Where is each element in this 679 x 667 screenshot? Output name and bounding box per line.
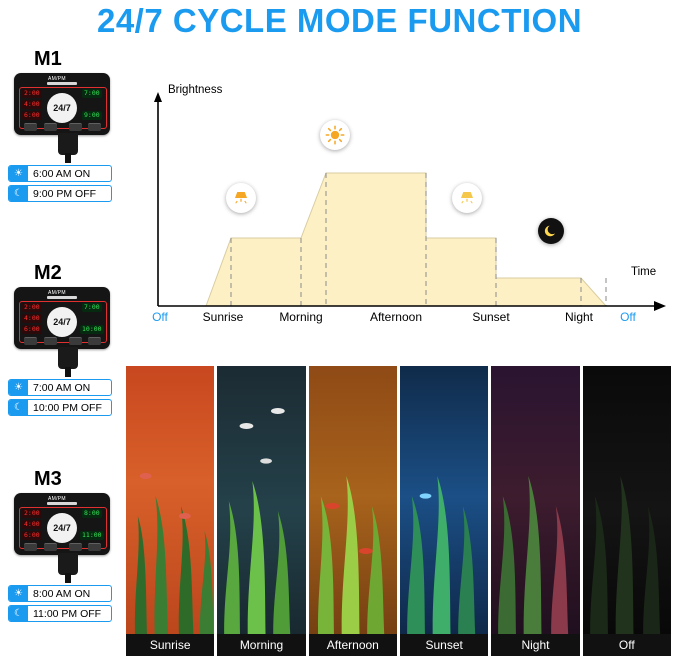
seg-green-1: 7:00 [82,89,102,98]
y-axis-label: Brightness [168,84,222,96]
tick-label-sunrise: Sunrise [183,310,263,324]
photo-pane-night: Night [491,366,579,656]
m3-on-time: ☀ 8:00 AM ON [8,585,112,602]
button-left-2[interactable] [44,123,57,131]
aquarium-plants-off [583,366,671,656]
aquarium-plants-night [491,366,579,656]
m3-off-time: ☾ 11:00 PM OFF [8,605,112,622]
button-right-1[interactable] [69,543,82,551]
moon-icon: ☾ [9,400,28,415]
button-left-1[interactable] [24,337,37,345]
photo-strip: Sunrise Morning Afternoon [126,366,671,656]
photo-pane-off: Off [583,366,671,656]
photo-pane-sunset: Sunset [400,366,488,656]
brightness-cycle-chart: Brightness Time Off Sunrise Morning Afte… [126,78,671,328]
module-m2: M2 AM/PM 2:00 4:00 6:00 7:00 10:00 24/7 … [8,262,118,416]
seg-red-2: 4:00 [22,100,42,109]
dial-24-7[interactable]: 24/7 [47,513,77,543]
sun-icon: ☀ [9,380,28,395]
button-left-1[interactable] [24,543,37,551]
aquarium-plants-morning [217,366,305,656]
m1-on-time-label: 6:00 AM ON [28,168,90,180]
m2-on-time: ☀ 7:00 AM ON [8,379,112,396]
m3-on-time-label: 8:00 AM ON [28,588,90,600]
tick-label-morning: Morning [261,310,341,324]
photo-pane-morning: Morning [217,366,305,656]
m2-off-time-label: 10:00 PM OFF [28,402,102,414]
tick-label-off-end: Off [608,310,648,324]
photo-caption-afternoon: Afternoon [309,634,397,656]
plug-body [58,133,78,155]
page-title: 24/7 CYCLE MODE FUNCTION [0,2,679,40]
ampm-bar [47,82,77,85]
m2-off-time: ☾ 10:00 PM OFF [8,399,112,416]
m2-on-time-label: 7:00 AM ON [28,382,90,394]
seg-red-3: 6:00 [22,325,42,334]
tick-label-night: Night [544,310,614,324]
button-right-1[interactable] [69,337,82,345]
dial-24-7[interactable]: 24/7 [47,307,77,337]
power-cord [65,573,71,583]
sun-glyph [325,125,345,145]
seg-green-2: 9:00 [82,111,102,120]
module-m1: M1 AM/PM 2:00 4:00 6:00 7:00 9:00 24/7 ☀… [8,48,118,202]
seg-red-2: 4:00 [22,314,42,323]
photo-caption-sunset: Sunset [400,634,488,656]
module-m3-label: M3 [34,468,118,491]
sun-icon: ☀ [9,166,28,181]
button-right-2[interactable] [88,123,101,131]
m3-off-time-label: 11:00 PM OFF [28,608,101,620]
button-right-2[interactable] [88,543,101,551]
controller-m3-body[interactable]: AM/PM 2:00 4:00 6:00 8:00 11:00 24/7 [14,493,110,555]
tick-label-sunset: Sunset [451,310,531,324]
controller-m1-body[interactable]: AM/PM 2:00 4:00 6:00 7:00 9:00 24/7 [14,73,110,135]
button-left-2[interactable] [44,337,57,345]
seg-green-2: 10:00 [80,325,104,334]
photo-caption-sunrise: Sunrise [126,634,214,656]
module-m2-label: M2 [34,262,118,285]
dial-24-7[interactable]: 24/7 [47,93,77,123]
seg-red-1: 2:00 [22,89,42,98]
sun-bright-icon [320,120,350,150]
plug-body [58,553,78,575]
sunset-lamp-icon [452,183,482,213]
seg-red-2: 4:00 [22,520,42,529]
seg-red-3: 6:00 [22,531,42,540]
m1-off-time: ☾ 9:00 PM OFF [8,185,112,202]
controller-m2-body[interactable]: AM/PM 2:00 4:00 6:00 7:00 10:00 24/7 [14,287,110,349]
ampm-bar [47,296,77,299]
button-left-1[interactable] [24,123,37,131]
aquarium-plants-sunrise [126,366,214,656]
photo-caption-off: Off [583,634,671,656]
sunrise-lamp-icon [226,183,256,213]
seg-red-3: 6:00 [22,111,42,120]
seg-red-1: 2:00 [22,303,42,312]
module-m3: M3 AM/PM 2:00 4:00 6:00 8:00 11:00 24/7 … [8,468,118,622]
moon-icon [538,218,564,244]
sunrise-lamp-glyph [232,189,250,207]
button-right-1[interactable] [69,123,82,131]
power-cord [65,153,71,163]
seg-red-1: 2:00 [22,509,42,518]
tick-label-afternoon: Afternoon [351,310,441,324]
aquarium-plants-sunset [400,366,488,656]
x-axis-arrow [654,301,666,311]
moon-glyph [543,223,559,239]
chart-svg [126,78,671,328]
m1-off-time-label: 9:00 PM OFF [28,188,96,200]
button-right-2[interactable] [88,337,101,345]
photo-pane-sunrise: Sunrise [126,366,214,656]
moon-icon: ☾ [9,606,28,621]
aquarium-plants-afternoon [309,366,397,656]
sun-icon: ☀ [9,586,28,601]
y-axis-arrow [154,92,162,102]
moon-icon: ☾ [9,186,28,201]
plug-body [58,347,78,369]
seg-green-2: 11:00 [80,531,104,540]
photo-caption-night: Night [491,634,579,656]
button-left-2[interactable] [44,543,57,551]
power-cord [65,367,71,377]
photo-caption-morning: Morning [217,634,305,656]
sunset-lamp-glyph [458,189,476,207]
tick-label-off-start: Off [140,310,180,324]
seg-green-1: 8:00 [82,509,102,518]
x-axis-label: Time [631,266,656,278]
photo-pane-afternoon: Afternoon [309,366,397,656]
module-m1-label: M1 [34,48,118,71]
m1-on-time: ☀ 6:00 AM ON [8,165,112,182]
ampm-bar [47,502,77,505]
seg-green-1: 7:00 [82,303,102,312]
